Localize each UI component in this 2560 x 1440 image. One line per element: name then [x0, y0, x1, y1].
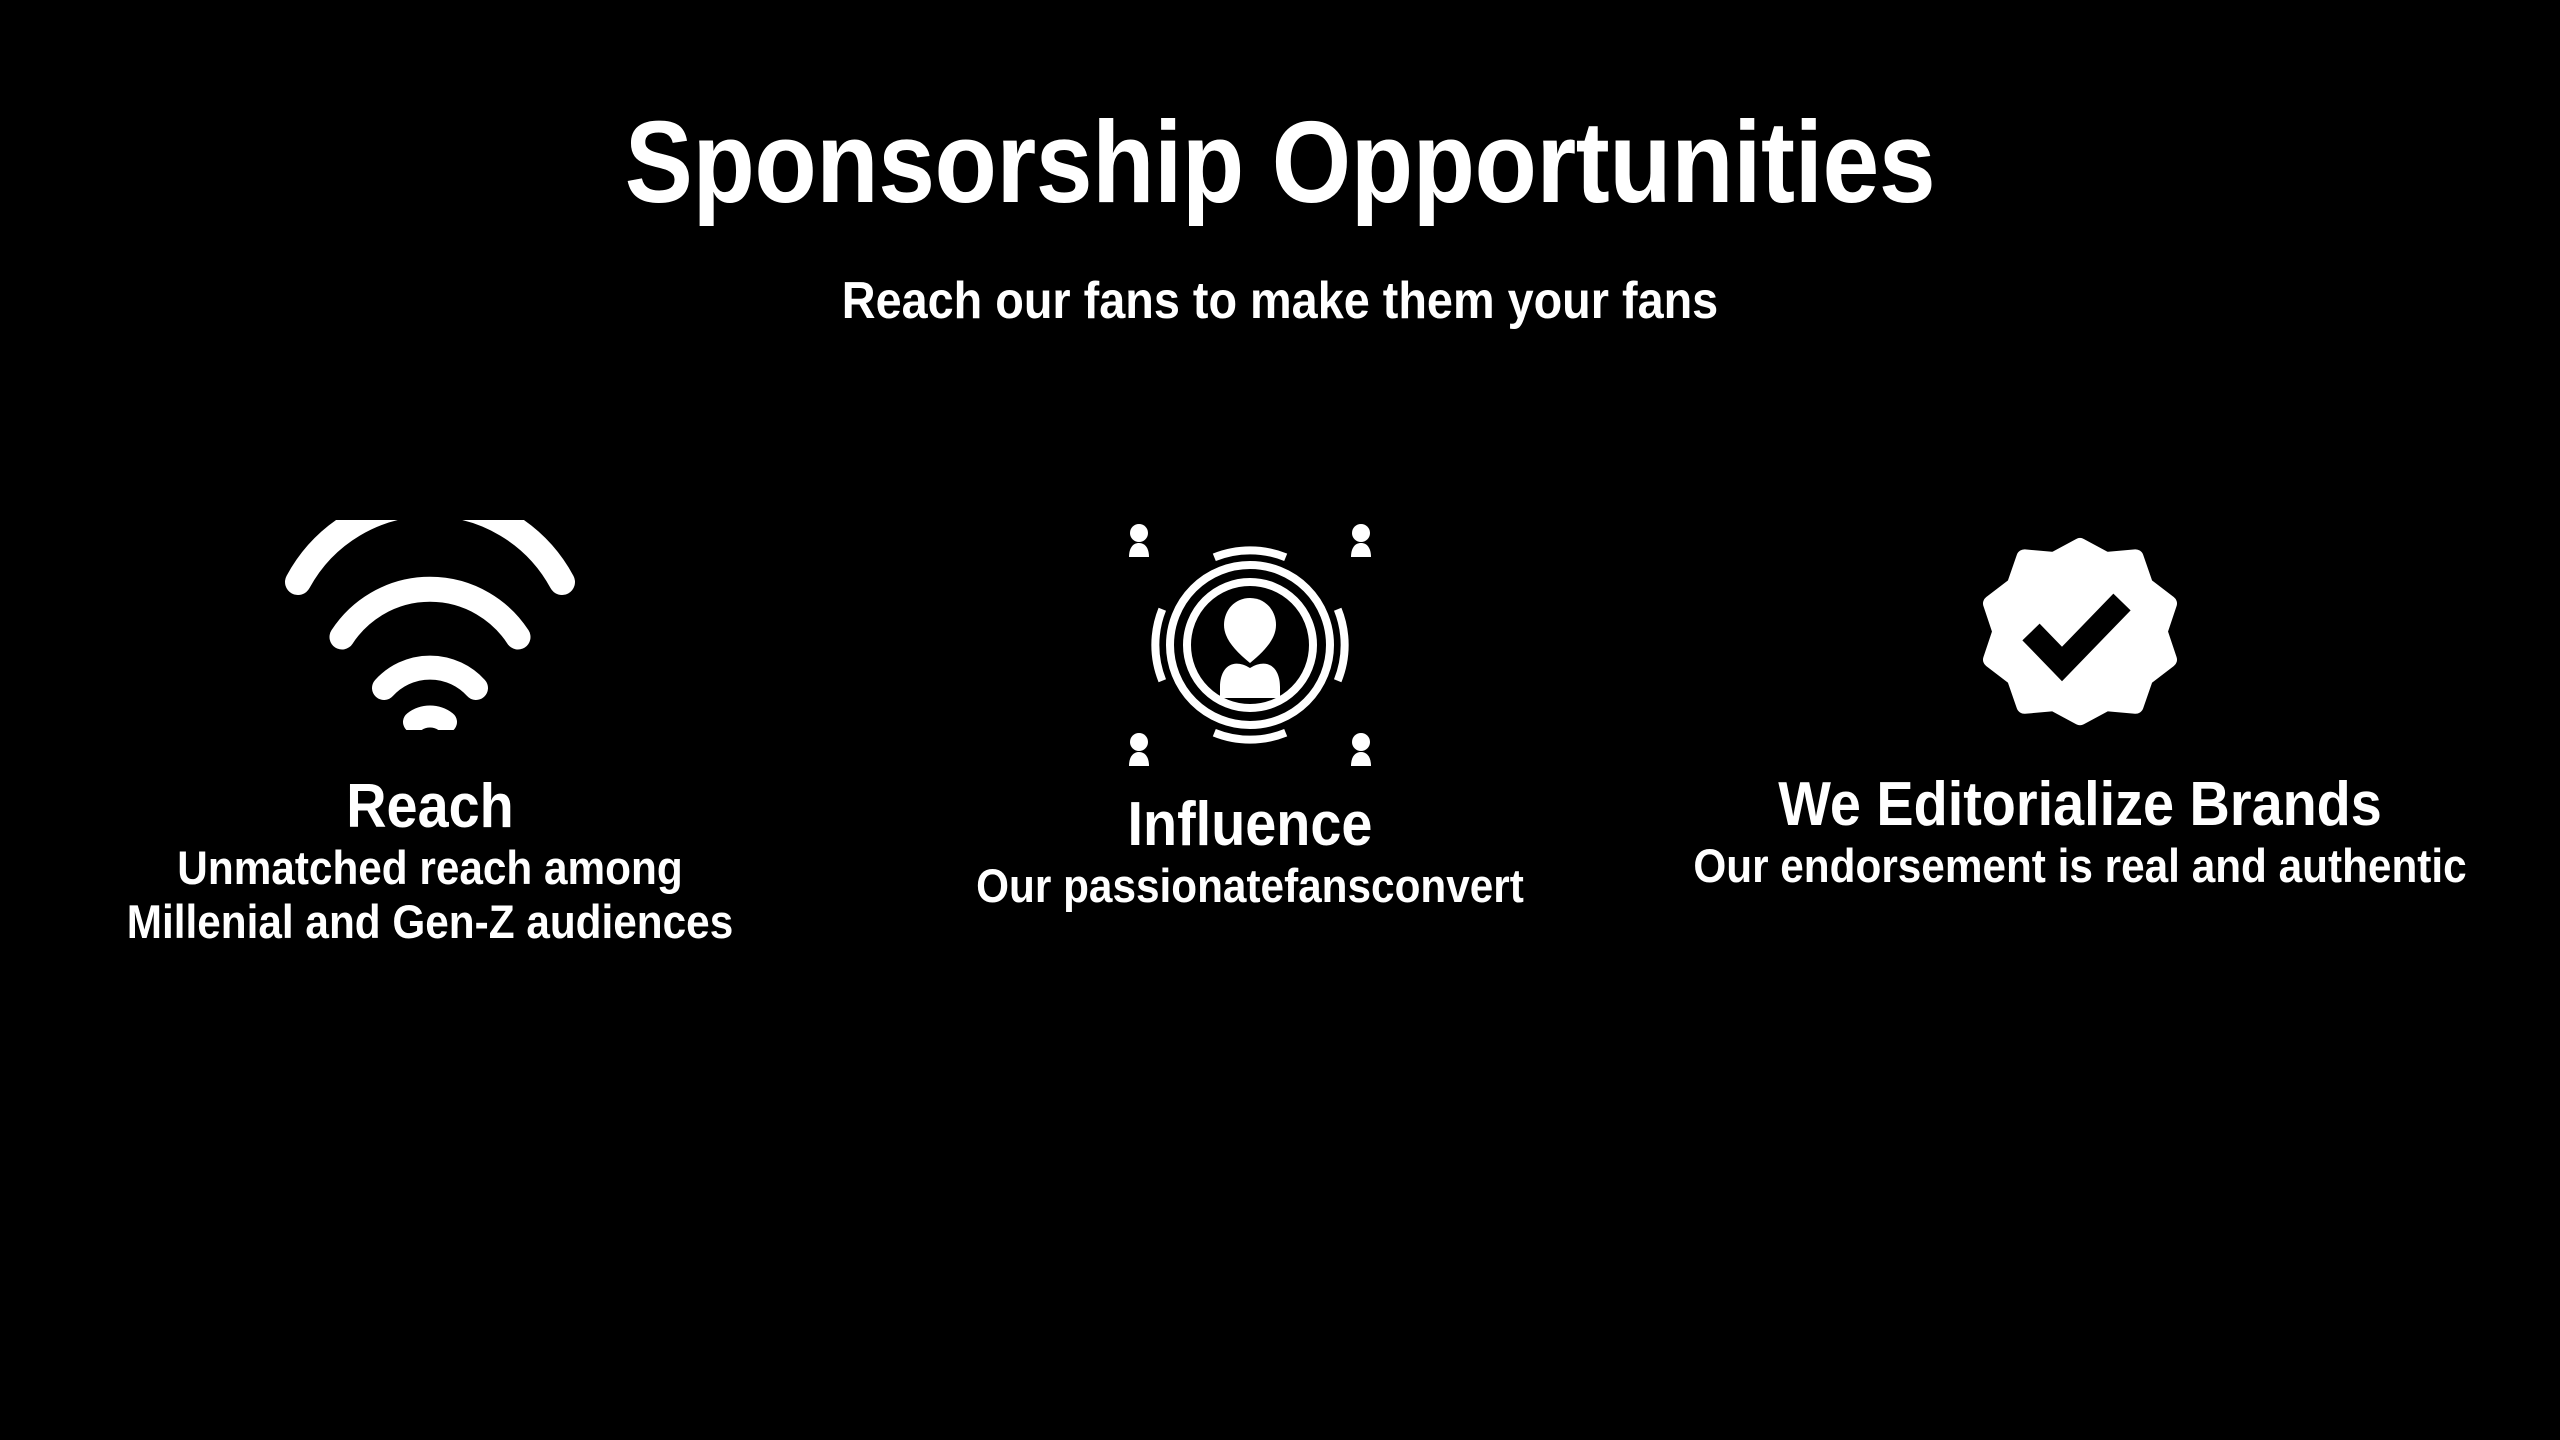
feature-column-editorialize: We Editorialize Brands Our endorsement i… — [1600, 520, 2560, 893]
slide-root: Sponsorship Opportunities Reach our fans… — [0, 0, 2560, 1440]
feature-title-reach: Reach — [43, 774, 817, 841]
verified-badge-check-icon — [1965, 520, 2195, 750]
feature-description-line: Millenial and Gen-Z audiences — [43, 895, 817, 950]
feature-description-influence: Our passionatefansconvert — [890, 859, 1610, 914]
feature-column-influence: Influence Our passionatefansconvert — [850, 520, 1650, 913]
feature-title-influence: Influence — [890, 792, 1610, 859]
feature-columns: Reach Unmatched reach among Millenial an… — [0, 0, 2560, 1440]
network-influence-icon — [1125, 520, 1375, 770]
feature-description-editorialize: Our endorsement is real and authentic — [1648, 839, 2512, 894]
wifi-signal-icon — [280, 520, 580, 730]
feature-description-line: Our passionatefansconvert — [890, 859, 1610, 914]
feature-title-editorialize: We Editorialize Brands — [1648, 772, 2512, 839]
feature-description-reach: Unmatched reach among Millenial and Gen-… — [43, 841, 817, 950]
feature-column-reach: Reach Unmatched reach among Millenial an… — [0, 520, 860, 950]
feature-description-line: Unmatched reach among — [43, 841, 817, 896]
feature-description-line: Our endorsement is real and authentic — [1648, 839, 2512, 894]
